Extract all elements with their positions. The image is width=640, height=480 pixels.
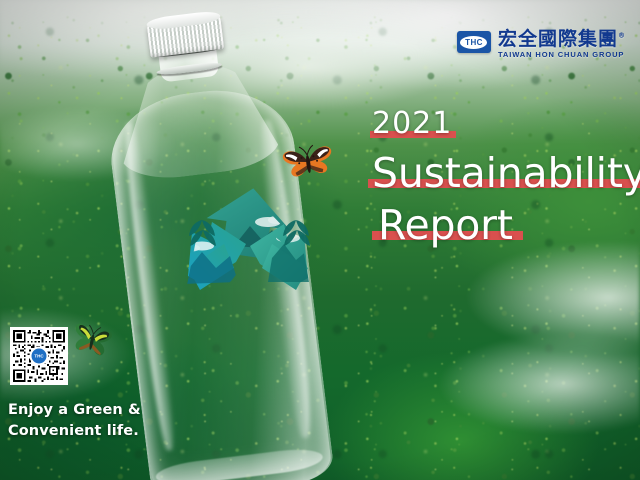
qr-code-icon[interactable]: THC (10, 327, 68, 385)
report-title-line1-text: Sustainability (372, 149, 640, 197)
report-cover: THC 宏全國際集團® TAIWAN HON CHUAN GROUP 2021 … (0, 0, 640, 480)
logo-english-name: TAIWAN HON CHUAN GROUP (498, 51, 626, 59)
tagline: Enjoy a Green & Convenient life. (8, 400, 141, 442)
report-year: 2021 (372, 106, 452, 141)
trademark-icon: ® (618, 32, 626, 40)
tagline-line2: Convenient life. (8, 421, 141, 442)
logo-text-group: 宏全國際集團® TAIWAN HON CHUAN GROUP (498, 30, 626, 59)
report-title-line2: Report (378, 201, 513, 249)
report-title-line2-text: Report (378, 201, 513, 249)
logo-chinese-name-text: 宏全國際集團 (498, 28, 618, 50)
qr-code-block[interactable]: THC (10, 327, 68, 385)
cover-headline: 2021 Sustainability Report (372, 106, 634, 249)
qr-center-logo-icon: THC (30, 347, 49, 366)
report-title-line1: Sustainability (372, 149, 640, 197)
recycling-emblem (176, 186, 320, 310)
thc-badge-icon: THC (457, 31, 491, 53)
logo-chinese-name: 宏全國際集團® (498, 30, 626, 49)
report-year-text: 2021 (372, 106, 452, 141)
orange-butterfly-icon (279, 137, 336, 186)
tagline-line1: Enjoy a Green & (8, 400, 141, 421)
thc-badge-label: THC (460, 36, 487, 49)
company-logo: THC 宏全國際集團® TAIWAN HON CHUAN GROUP (457, 30, 626, 59)
